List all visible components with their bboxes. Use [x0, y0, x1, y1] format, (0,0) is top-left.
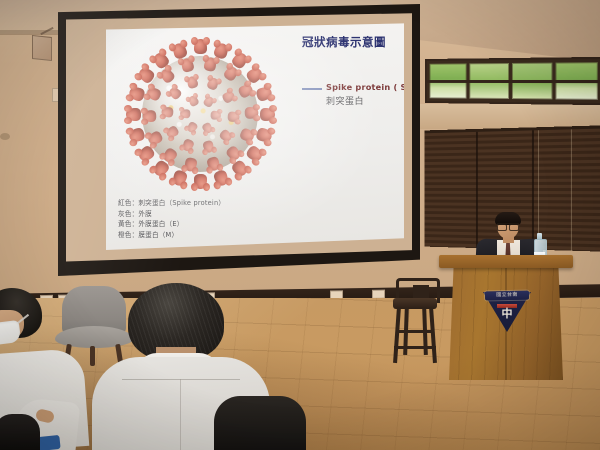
virus-spike	[193, 175, 208, 190]
virus-spike	[125, 107, 140, 122]
virus-spike	[179, 108, 190, 119]
virus-spike	[126, 84, 145, 103]
shirt-seam	[180, 379, 181, 450]
virus-spike	[193, 39, 208, 54]
projection-screen-surface: 冠狀病毒示意圖 Spike protein ( S-protein ) 刺突蛋白…	[66, 12, 412, 264]
eyeglasses-icon	[497, 223, 519, 229]
virus-spike	[126, 126, 145, 145]
legend-item: 橙色：膜蛋白（M）	[118, 230, 225, 241]
callout-label-english: Spike protein ( S-protein )	[326, 82, 404, 92]
coronavirus-illustration	[116, 30, 284, 198]
virus-spike	[228, 110, 240, 122]
virus-spike	[211, 109, 222, 120]
callout-label-chinese: 刺突蛋白	[326, 94, 364, 107]
audience-member-foreground-right	[214, 396, 306, 450]
virus-spike	[212, 40, 231, 59]
wall-mark	[0, 133, 10, 140]
presentation-slide: 冠狀病毒示意圖 Spike protein ( S-protein ) 刺突蛋白…	[106, 22, 404, 257]
virus-spike	[201, 140, 215, 154]
projection-screen-frame: 冠狀病毒示意圖 Spike protein ( S-protein ) 刺突蛋白…	[58, 4, 420, 276]
audience-member-foreground-left	[0, 414, 40, 450]
virus-spike	[255, 84, 274, 103]
clerestory-window	[425, 57, 600, 105]
virus-spike	[212, 169, 231, 188]
legend-item: 紅色：刺突蛋白（Spike protein）	[118, 198, 225, 209]
metal-bar-stool	[392, 278, 438, 364]
crest-character: 中	[483, 308, 531, 319]
wooden-podium: 國立台南 中	[443, 255, 569, 380]
virus-spike	[202, 55, 218, 71]
virus-spike	[261, 107, 276, 122]
virus-spike	[245, 105, 259, 119]
virus-spike	[205, 156, 221, 172]
slide-title: 冠狀病毒示意圖	[302, 34, 386, 50]
lecture-hall-photo: 冠狀病毒示意圖 Spike protein ( S-protein ) 刺突蛋白…	[0, 0, 600, 450]
virus-spike	[160, 105, 172, 117]
crest-banner-text: 國立台南	[485, 291, 529, 301]
school-crest: 國立台南 中	[483, 288, 531, 332]
stool-leg	[429, 307, 437, 363]
virus-spike	[185, 74, 199, 88]
crest-banner: 國立台南	[485, 291, 529, 301]
virus-spike	[141, 109, 155, 123]
shirt-seam	[122, 379, 240, 380]
stool-footrest	[396, 330, 434, 333]
virus-spike	[170, 40, 189, 59]
virus-spike	[182, 157, 198, 173]
bottle-cap	[537, 233, 542, 240]
wall-speaker-icon	[32, 35, 52, 61]
face-mask-icon	[0, 320, 21, 346]
blue-object	[37, 435, 60, 450]
virus-spike	[170, 169, 189, 188]
virus-spike	[179, 55, 195, 71]
blind-cord	[571, 129, 572, 250]
legend-item: 灰色：外膜	[118, 209, 225, 220]
podium-desktop	[439, 255, 573, 268]
callout-leader-line	[302, 88, 322, 90]
legend-item: 黃色：外膜蛋白（E）	[118, 219, 225, 230]
slide-legend: 紅色：刺突蛋白（Spike protein） 灰色：外膜 黃色：外膜蛋白（E） …	[118, 198, 225, 241]
window-mullion	[427, 80, 600, 83]
stool-footrest	[394, 346, 436, 349]
virus-spike	[255, 126, 274, 145]
stool-leg	[393, 307, 401, 363]
